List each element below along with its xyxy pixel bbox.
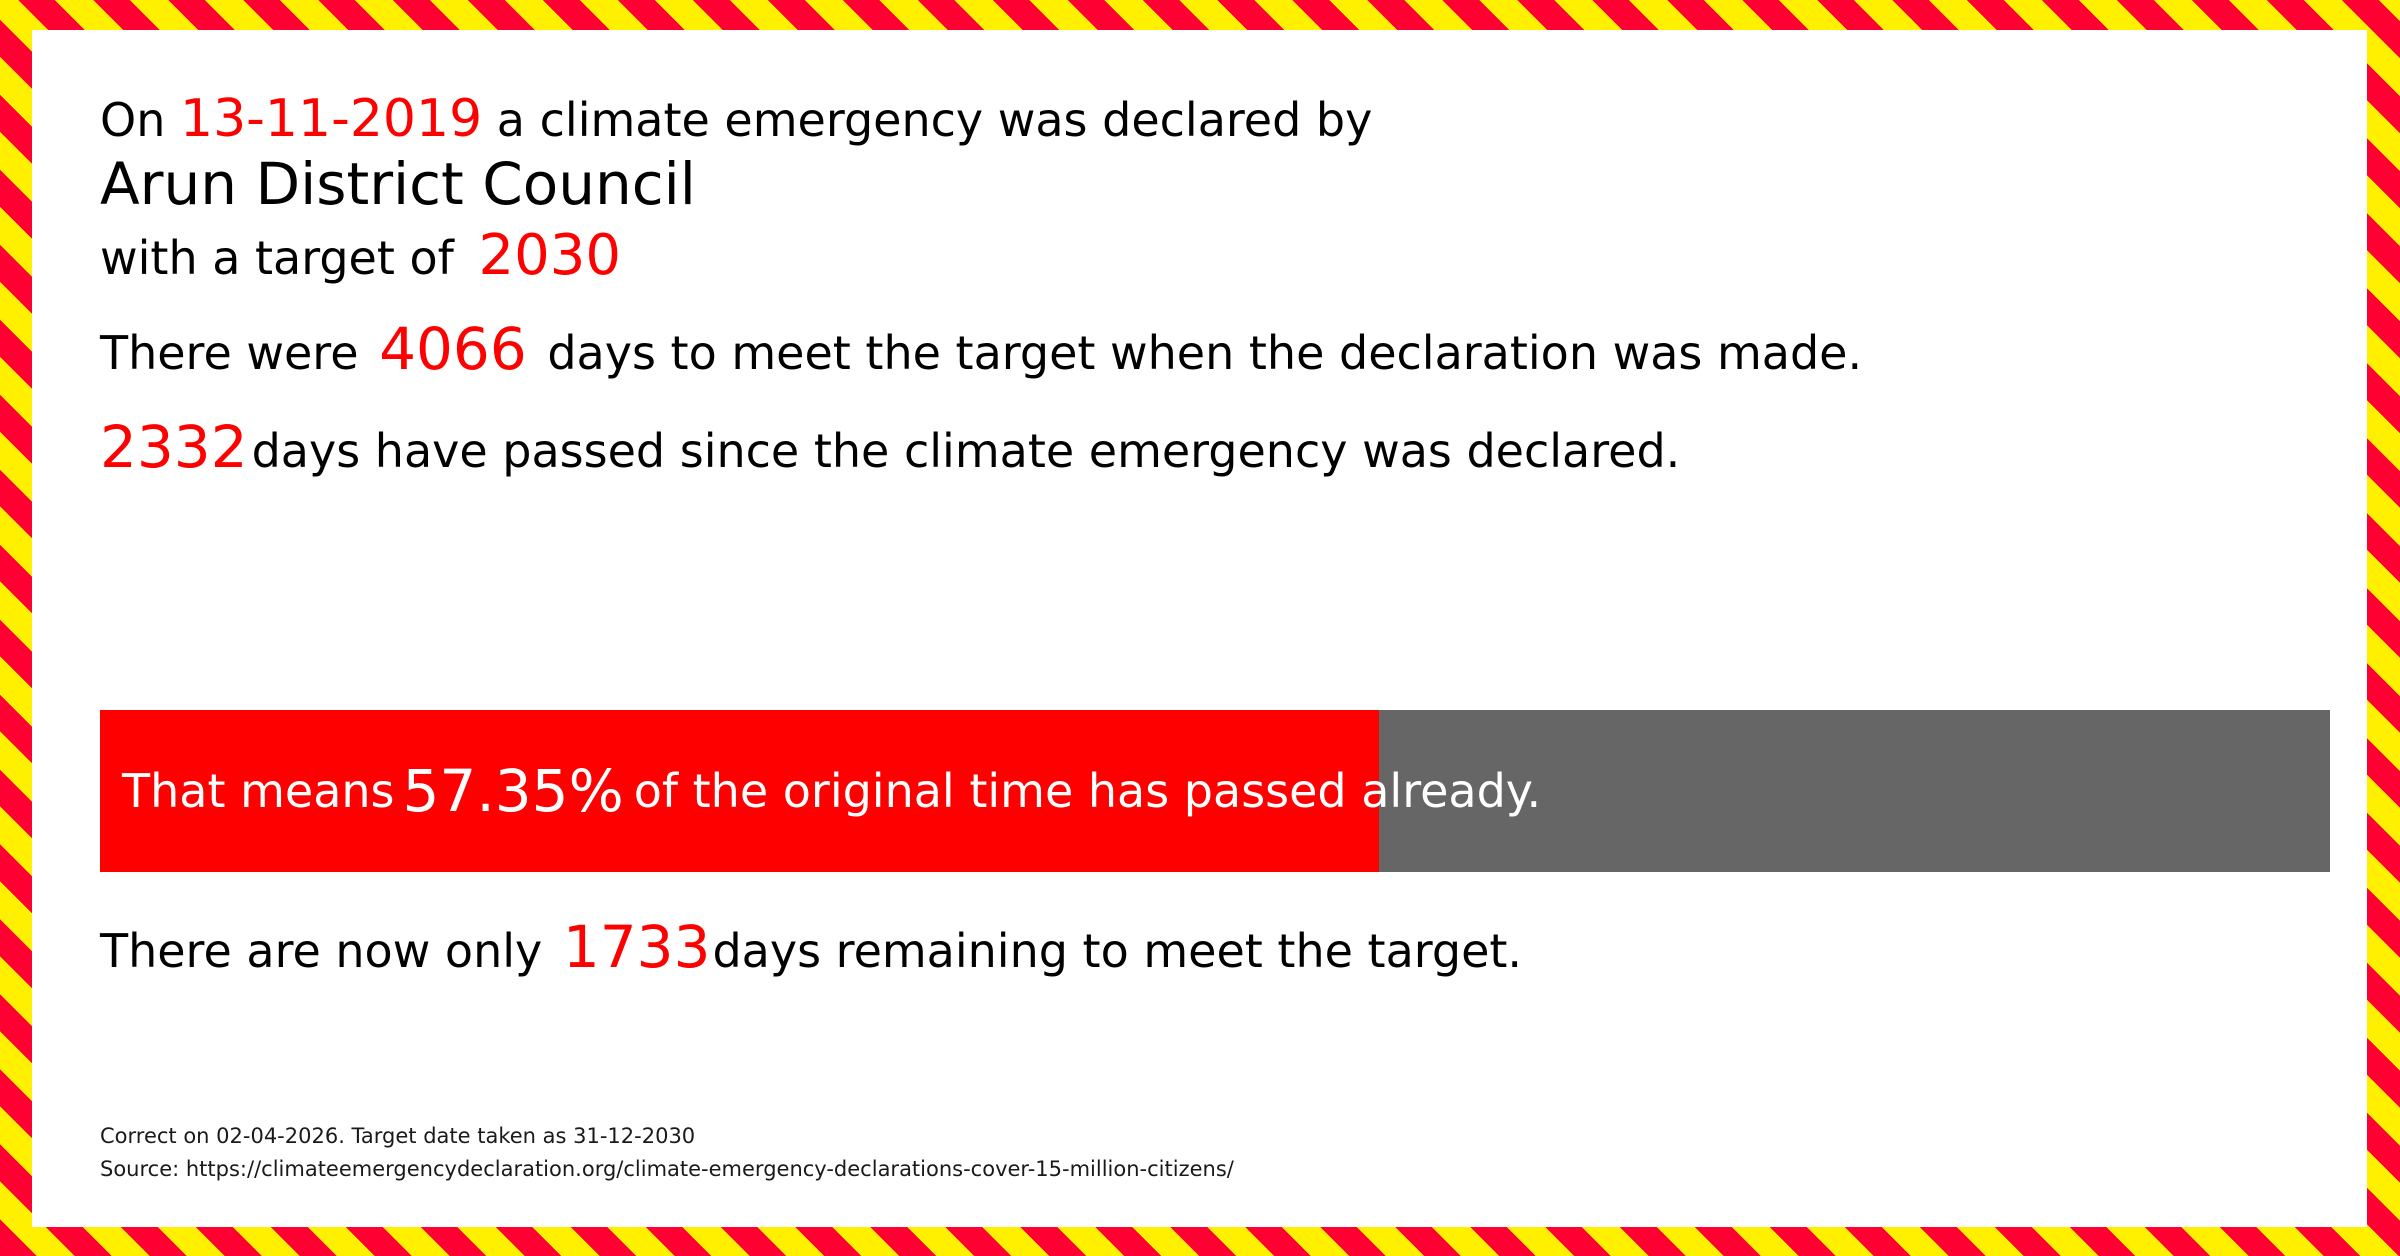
progress-label-prefix: That means — [122, 764, 395, 818]
progress-percent-value: 57.35% — [395, 757, 634, 825]
declaration-date: 13-11-2019 — [180, 89, 482, 149]
hazard-striped-frame: On 13-11-2019 a climate emergency was de… — [0, 0, 2400, 1256]
passed-days-value: 2332 — [100, 413, 252, 481]
had-days-prefix: There were — [100, 326, 373, 380]
card-surface: On 13-11-2019 a climate emergency was de… — [32, 30, 2367, 1227]
target-prefix: with a target of — [100, 231, 468, 285]
card-content: On 13-11-2019 a climate emergency was de… — [100, 30, 2331, 1227]
passed-days-suffix: days have passed since the climate emerg… — [252, 424, 1681, 478]
declaration-suffix: a climate emergency was declared by — [482, 93, 1372, 147]
had-days-value: 4066 — [373, 315, 533, 383]
remaining-days-value: 1733 — [557, 913, 713, 981]
declaration-line: On 13-11-2019 a climate emergency was de… — [100, 93, 1372, 145]
authority-name: Arun District Council — [100, 155, 696, 213]
passed-days-line: 2332days have passed since the climate e… — [100, 418, 1680, 476]
footnotes: Correct on 02-04-2026. Target date taken… — [100, 1120, 1234, 1185]
time-elapsed-progress-bar: That means 57.35%of the original time ha… — [100, 710, 2330, 872]
declaration-prefix: On — [100, 93, 180, 147]
progress-label-suffix: of the original time has passed already. — [634, 764, 1541, 818]
target-line: with a target of 2030 — [100, 228, 621, 284]
remaining-suffix: days remaining to meet the target. — [712, 924, 1522, 978]
remaining-prefix: There are now only — [100, 924, 557, 978]
had-days-line: There were 4066 days to meet the target … — [100, 320, 1862, 378]
remaining-days-line: There are now only 1733days remaining to… — [100, 918, 1522, 976]
footnote-source: Source: https://climateemergencydeclarat… — [100, 1153, 1234, 1186]
progress-label: That means 57.35%of the original time ha… — [122, 710, 1541, 872]
had-days-suffix: days to meet the target when the declara… — [533, 326, 1862, 380]
target-year: 2030 — [468, 223, 621, 288]
footnote-correct-on: Correct on 02-04-2026. Target date taken… — [100, 1120, 1234, 1153]
